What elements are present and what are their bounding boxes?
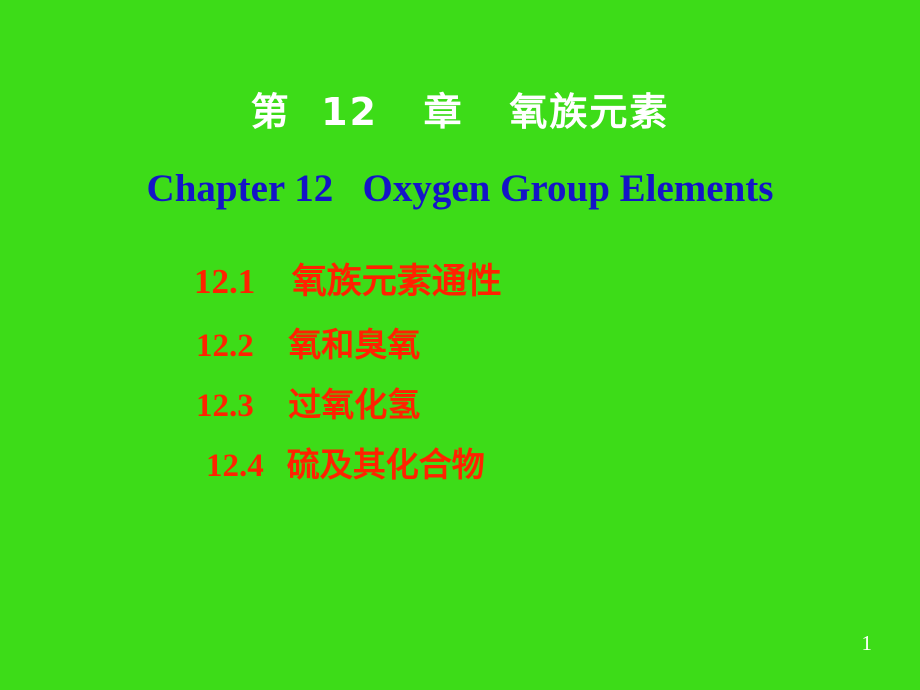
toc-item-number: 12.1 [194, 262, 255, 301]
slide-title-chinese: 第 12 章 氧族元素 [0, 92, 920, 134]
table-of-contents: 12.1 氧族元素通性 12.2 氧和臭氧 12.3 过氧化氢 12.4 硫及其… [0, 262, 920, 486]
list-item: 12.4 硫及其化合物 [0, 446, 920, 486]
toc-item-label: 氧和臭氧 [254, 325, 420, 364]
slide: 第 12 章 氧族元素 Chapter 12 Oxygen Group Elem… [0, 0, 920, 690]
toc-item-label: 过氧化氢 [254, 385, 420, 424]
toc-item-number: 12.4 [206, 448, 264, 484]
toc-item-label: 氧族元素通性 [255, 262, 502, 302]
slide-title-english: Chapter 12 Oxygen Group Elements [0, 168, 920, 211]
list-item: 12.3 过氧化氢 [0, 386, 920, 426]
toc-item-number: 12.2 [196, 328, 254, 364]
list-item: 12.1 氧族元素通性 [0, 262, 920, 302]
toc-item-number: 12.3 [196, 388, 254, 424]
list-item: 12.2 氧和臭氧 [0, 326, 920, 366]
toc-item-label: 硫及其化合物 [264, 445, 485, 484]
page-number: 1 [862, 633, 873, 654]
